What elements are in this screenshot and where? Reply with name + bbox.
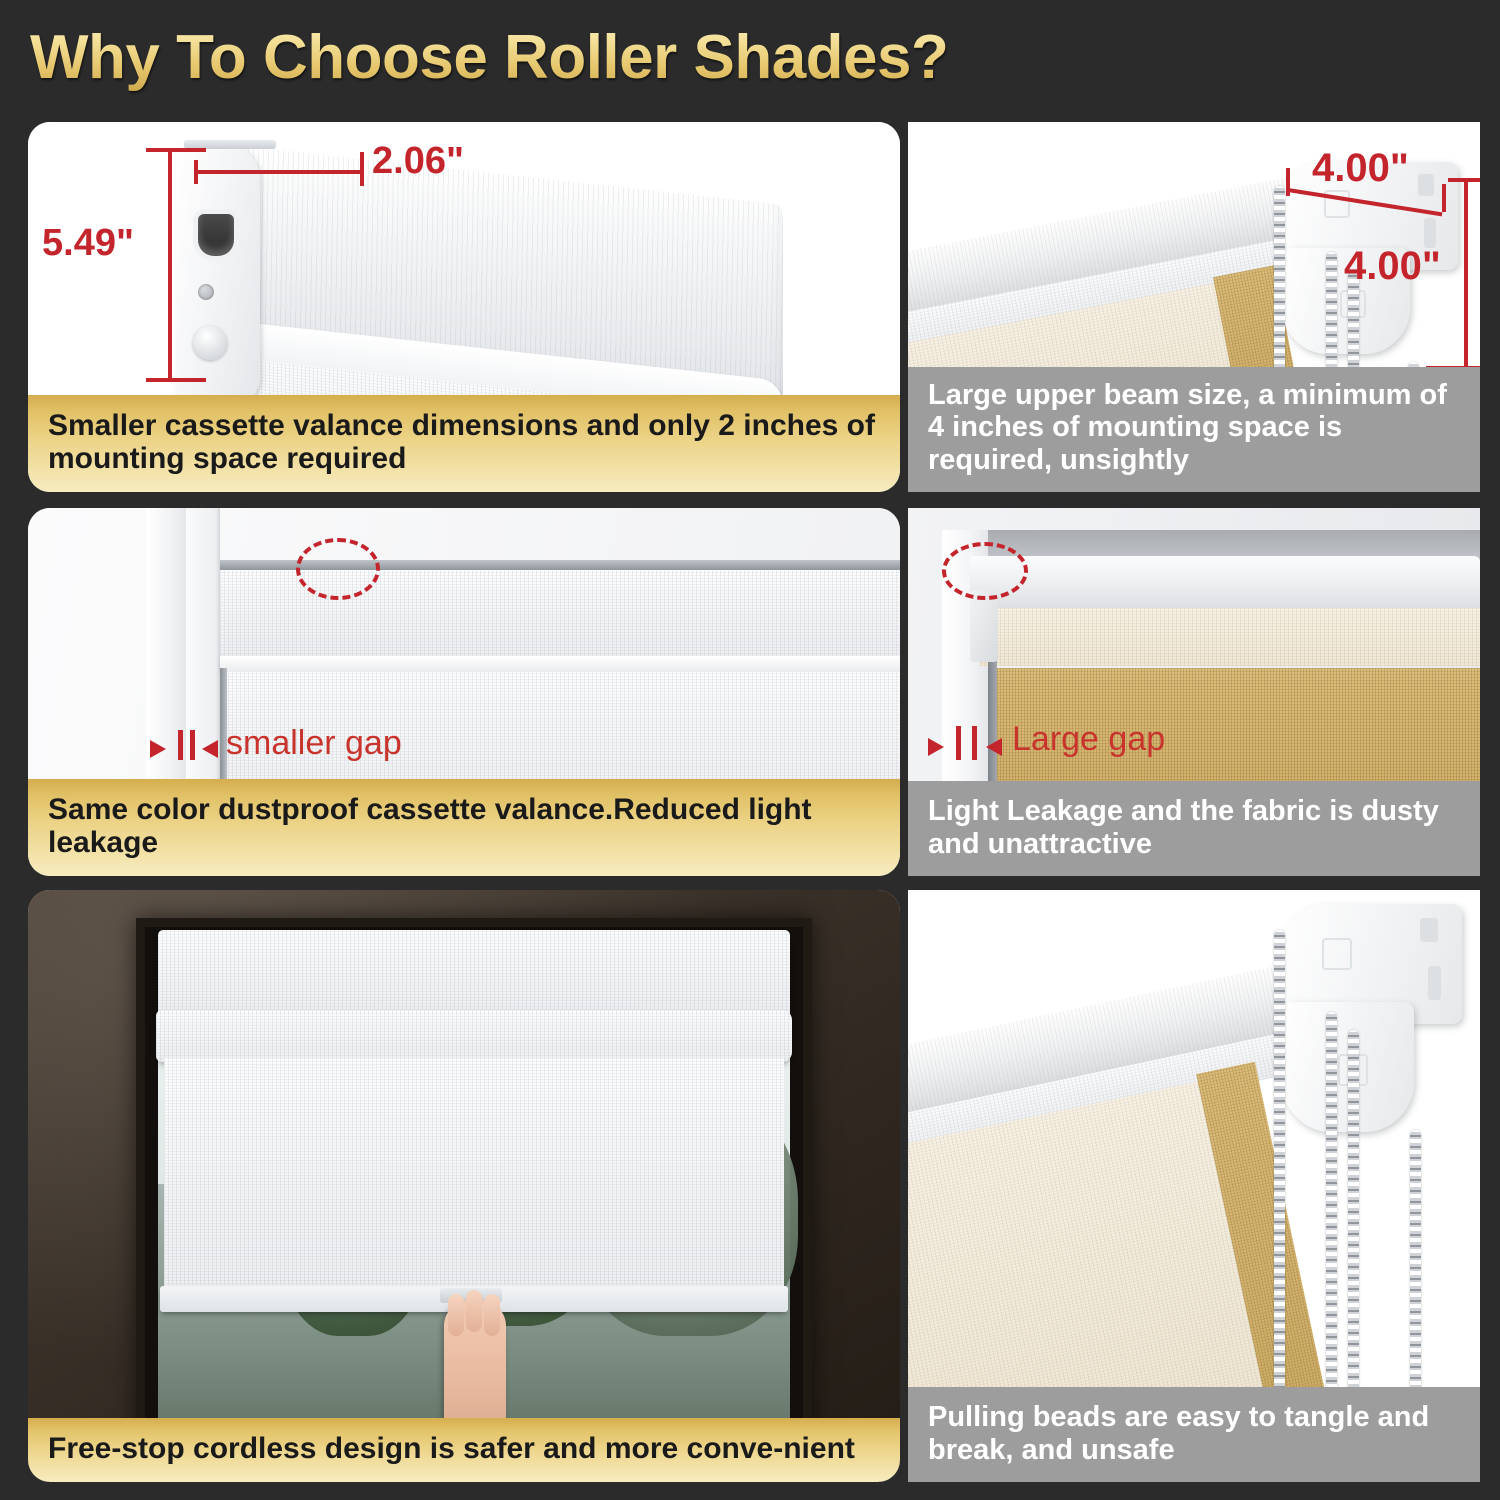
comparison-grid: 2.06" 5.49" Smaller cassette valance dim… bbox=[0, 112, 1500, 1492]
beam-width-tick-left bbox=[1286, 168, 1290, 196]
width-dimension-line bbox=[196, 170, 364, 174]
gap-arrow-right-icon bbox=[150, 740, 166, 758]
finger-2 bbox=[466, 1290, 482, 1332]
height-tick-bottom bbox=[146, 378, 206, 382]
gap-bar-left bbox=[956, 726, 961, 760]
panel-top-right[interactable]: 4.00" 4.00" Large upper beam size, a min… bbox=[908, 122, 1480, 492]
bead-chain-1 bbox=[1274, 930, 1285, 1440]
caption-top-right: Large upper beam size, a minimum of 4 in… bbox=[908, 367, 1480, 492]
highlight-ellipse-icon bbox=[296, 538, 380, 600]
width-tick-left bbox=[194, 160, 198, 184]
bead-chain-3 bbox=[1348, 1030, 1359, 1440]
beam-width-label: 4.00" bbox=[1312, 146, 1409, 191]
highlight-ellipse-icon bbox=[942, 542, 1028, 600]
gap-arrow-right-icon bbox=[928, 738, 944, 756]
end-cap-screw-upper bbox=[198, 284, 214, 300]
finger-1 bbox=[448, 1294, 464, 1336]
shade-valance-lip bbox=[156, 1010, 792, 1062]
finger-3 bbox=[484, 1294, 500, 1336]
window-casing-inner bbox=[186, 508, 220, 818]
roller-tube bbox=[970, 556, 1480, 612]
shade-headrail bbox=[158, 930, 790, 1016]
caption-middle-left: Same color dustproof cassette valance.Re… bbox=[28, 779, 900, 876]
page-title: Why To Choose Roller Shades? bbox=[30, 18, 1130, 98]
gap-bar-left bbox=[178, 730, 183, 760]
window-casing-outer bbox=[146, 508, 186, 818]
end-cap-slot bbox=[198, 214, 234, 256]
cordless-window-scene-image bbox=[28, 890, 900, 1482]
width-dimension-label: 2.06" bbox=[372, 140, 464, 183]
cassette-mid-rail bbox=[220, 656, 900, 672]
caption-middle-right: Light Leakage and the fabric is dusty an… bbox=[908, 781, 1480, 876]
gap-arrow-left-icon bbox=[202, 740, 218, 758]
bead-chain-2 bbox=[1326, 1012, 1337, 1440]
cream-fabric-band bbox=[980, 608, 1480, 666]
bracket-emboss-upper bbox=[1322, 938, 1352, 970]
panel-bottom-right[interactable]: Pulling beads are easy to tangle and bre… bbox=[908, 890, 1480, 1482]
valance-end-cap bbox=[176, 142, 260, 404]
roller-bracket bbox=[970, 590, 998, 662]
beam-width-tick-right bbox=[1442, 184, 1446, 212]
gap-bar-right bbox=[972, 726, 977, 760]
gap-callout-label: Large gap bbox=[1012, 720, 1165, 759]
panel-middle-left[interactable]: smaller gap Same color dustproof cassett… bbox=[28, 508, 900, 876]
bracket-notch-1 bbox=[1418, 174, 1434, 196]
height-dimension-line bbox=[168, 150, 172, 382]
height-dimension-label: 5.49" bbox=[42, 222, 134, 265]
gap-arrow-left-icon bbox=[986, 738, 1002, 756]
shade-fabric bbox=[164, 1058, 784, 1290]
title-bar: Why To Choose Roller Shades? bbox=[30, 18, 1130, 98]
beam-height-tick-top bbox=[1448, 178, 1480, 182]
panel-top-left[interactable]: 2.06" 5.49" Smaller cassette valance dim… bbox=[28, 122, 900, 492]
gap-bar-right bbox=[190, 730, 195, 760]
bracket-notch-2 bbox=[1428, 966, 1441, 1000]
caption-top-left: Smaller cassette valance dimensions and … bbox=[28, 395, 900, 492]
gap-callout-label: smaller gap bbox=[226, 724, 402, 763]
bracket-notch-1 bbox=[1420, 918, 1438, 942]
end-cap-screw-lower bbox=[193, 326, 227, 360]
beam-height-label: 4.00" bbox=[1344, 244, 1441, 289]
height-tick-top bbox=[146, 148, 206, 152]
caption-bottom-right: Pulling beads are easy to tangle and bre… bbox=[908, 1387, 1480, 1482]
caption-bottom-left: Free-stop cordless design is safer and m… bbox=[28, 1418, 900, 1482]
infographic-page: Why To Choose Roller Shades? 2.06" bbox=[0, 0, 1500, 1500]
width-tick-right bbox=[360, 152, 364, 186]
beam-height-line bbox=[1464, 180, 1468, 370]
panel-middle-right[interactable]: Large gap Light Leakage and the fabric i… bbox=[908, 508, 1480, 876]
panel-bottom-left[interactable]: Free-stop cordless design is safer and m… bbox=[28, 890, 900, 1482]
